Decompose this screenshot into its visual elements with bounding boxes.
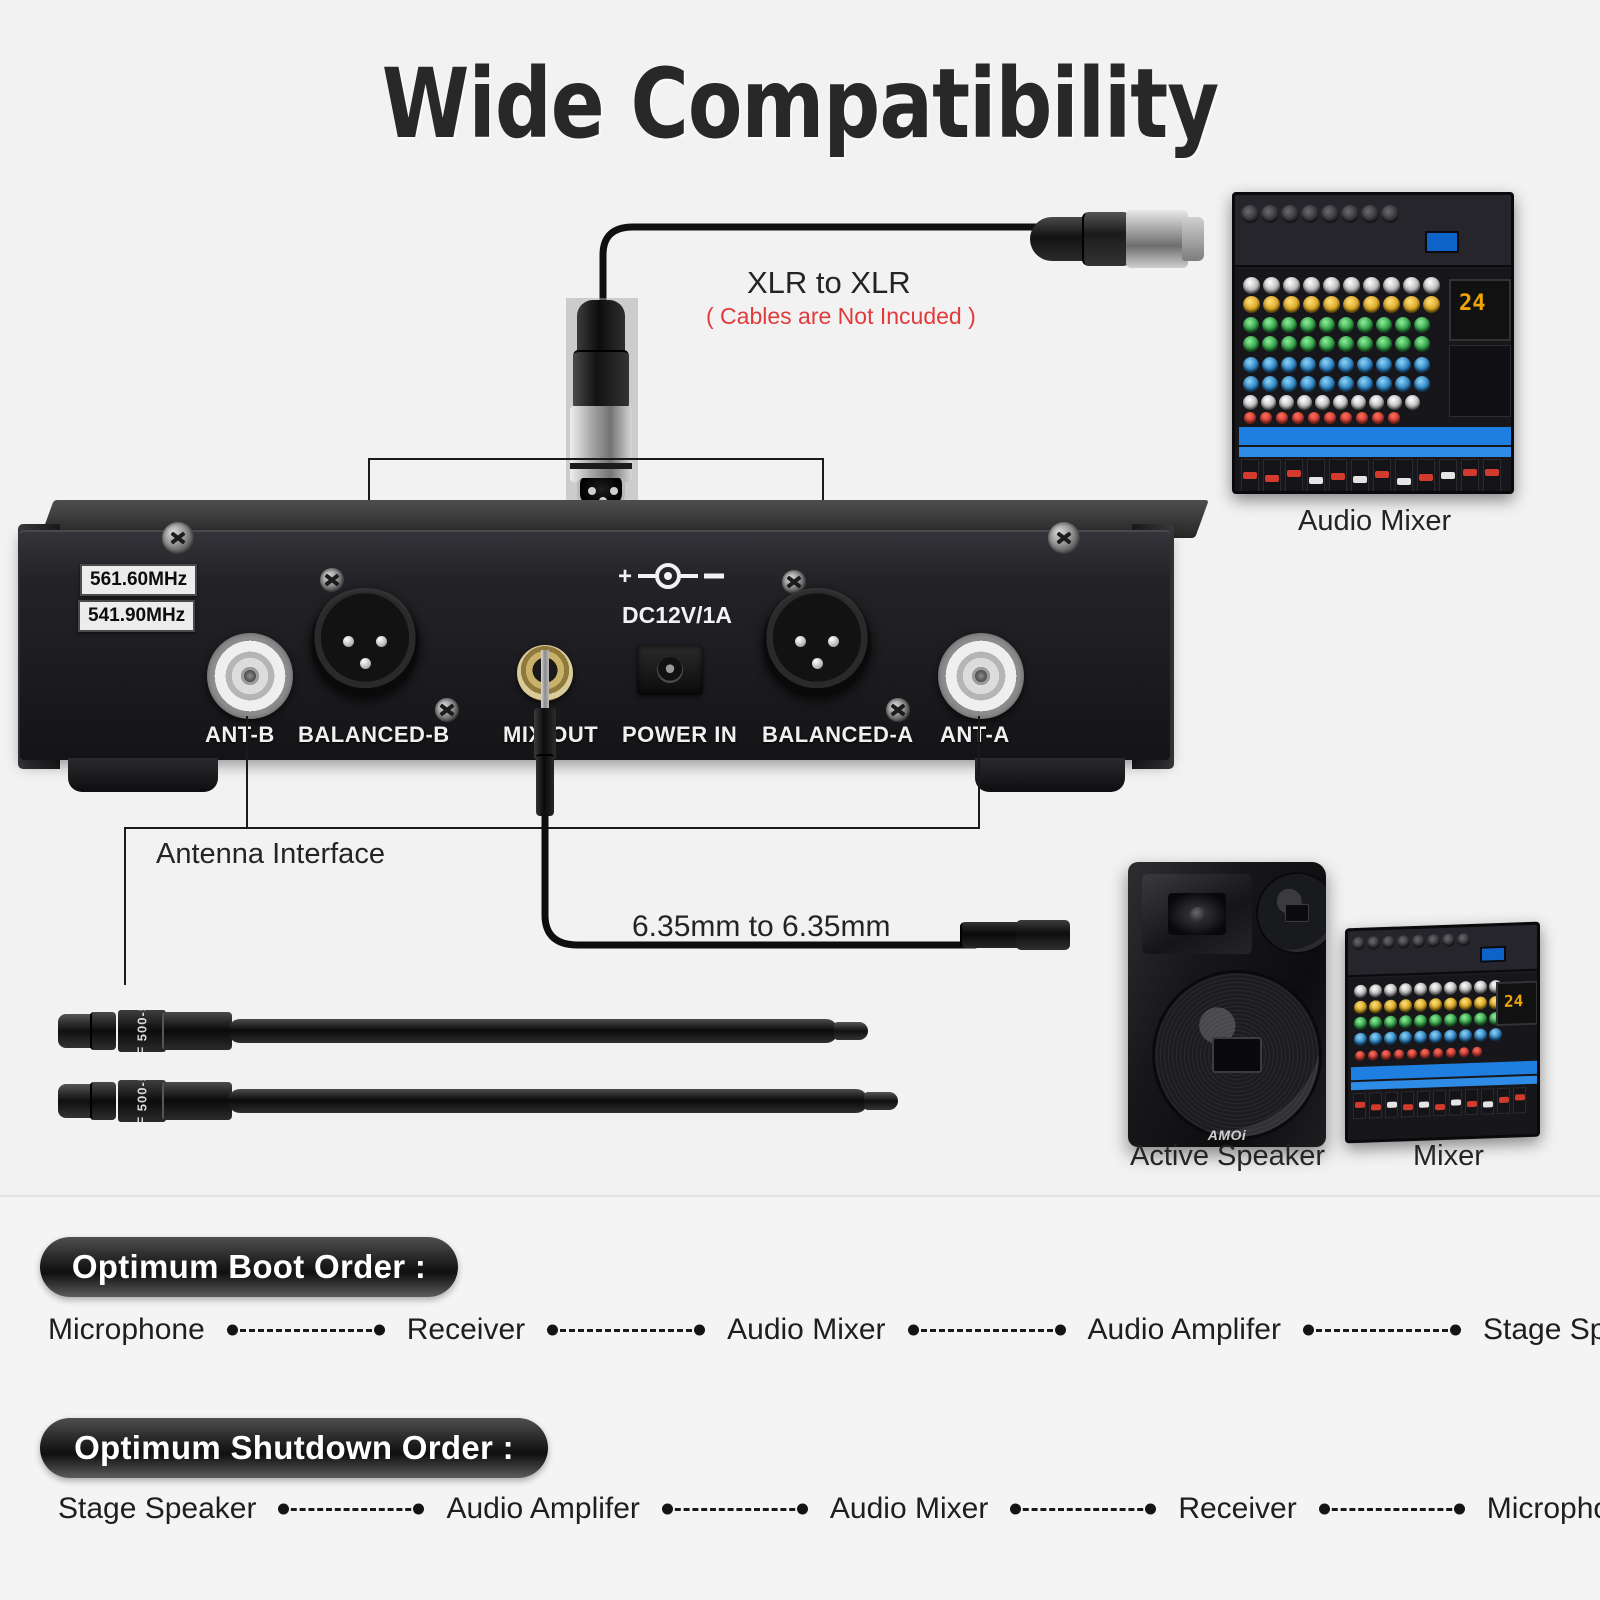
mixer-peak-led	[1324, 412, 1336, 424]
mixer-aux-knob[interactable]	[1243, 376, 1259, 392]
balanced-a-pin-1	[795, 636, 806, 647]
mixer2-dsp-value: 24	[1504, 991, 1523, 1011]
mixer-eq-knob[interactable]	[1343, 296, 1360, 313]
mixer2-peak-led	[1472, 1047, 1482, 1057]
mixer2-eq-knob[interactable]	[1369, 1000, 1382, 1013]
boot-step-4: Audio Amplifer	[1088, 1313, 1281, 1347]
mixer2-gain-knob[interactable]	[1414, 983, 1427, 996]
boot-link-1	[231, 1329, 381, 1332]
mixer-eq-knob[interactable]	[1395, 336, 1411, 352]
mixer2-eq-knob[interactable]	[1459, 997, 1472, 1010]
mixer2-peak-led	[1420, 1048, 1430, 1058]
mixer-aux1-knob-row	[1243, 357, 1430, 373]
mixer2-peak-led	[1459, 1047, 1469, 1057]
boot-step-3: Audio Mixer	[727, 1313, 885, 1347]
balanced-b-pin-3	[360, 658, 371, 669]
mixer2-rear-knob[interactable]	[1442, 934, 1455, 947]
xlr-male-connector	[1030, 208, 1205, 270]
port-label-ant-b: ANT-B	[205, 722, 275, 748]
xlr-pin-1	[588, 487, 596, 495]
mixer-master-fader[interactable]	[1483, 459, 1501, 493]
mixer-pan-knob[interactable]	[1279, 395, 1294, 410]
shutdown-order-chain: Stage Speaker Audio Amplifer Audio Mixer…	[58, 1492, 1600, 1526]
mixer-rear-knob[interactable]	[1261, 205, 1279, 223]
mixer-eq-low-knob-row	[1243, 336, 1430, 352]
shutdown-step-2: Audio Amplifer	[446, 1492, 639, 1526]
antenna-leader-b-vertical	[246, 716, 248, 828]
mixer-gain-knob[interactable]	[1263, 277, 1280, 294]
mixer2-fader[interactable]	[1481, 1088, 1494, 1114]
mixer2-aux-knob[interactable]	[1444, 1029, 1457, 1042]
shutdown-step-3: Audio Mixer	[830, 1492, 988, 1526]
antenna-2-joint	[162, 1082, 232, 1120]
mixer2-eq-knob[interactable]	[1429, 998, 1442, 1011]
mixer-master-fader[interactable]	[1461, 459, 1479, 493]
mixer-aux-knob[interactable]	[1357, 376, 1373, 392]
xlr-female-barrel	[570, 406, 632, 482]
mixer-channel-strip	[1239, 447, 1513, 457]
mixer-fader[interactable]	[1263, 459, 1281, 493]
boot-link-3	[912, 1329, 1062, 1332]
mixer-aux-knob[interactable]	[1414, 357, 1430, 373]
mixer-pan-knob[interactable]	[1387, 395, 1402, 410]
mixer-fader[interactable]	[1329, 459, 1347, 493]
xlr-female-grip	[573, 350, 629, 410]
mixer-eq-knob[interactable]	[1243, 296, 1260, 313]
mixer-rear-knob[interactable]	[1321, 205, 1339, 223]
mixer-aux-knob[interactable]	[1376, 376, 1392, 392]
mixer2-aux-knob[interactable]	[1489, 1028, 1502, 1041]
frequency-sticker-a: 561.60MHz	[80, 564, 197, 596]
shutdown-step-1: Stage Speaker	[58, 1492, 256, 1526]
mixer2-peak-led	[1355, 1051, 1365, 1061]
mixer2-eq-knob[interactable]	[1429, 1014, 1442, 1027]
antenna-1: UHF 500-590	[58, 1008, 868, 1054]
mixer-pan-knob[interactable]	[1369, 395, 1384, 410]
mixer2-rear-knob[interactable]	[1397, 935, 1410, 948]
mixer-peak-led-row	[1244, 412, 1400, 424]
port-label-balanced-b: BALANCED-B	[298, 722, 450, 748]
balanced-b-pin-2	[376, 636, 387, 647]
mixer-aux-knob[interactable]	[1300, 357, 1316, 373]
mixer-fader-row	[1241, 459, 1501, 493]
mixer2-aux-knob[interactable]	[1474, 1028, 1487, 1041]
xlr-female-connector	[565, 300, 637, 510]
mixer-peak-led	[1244, 412, 1256, 424]
mixer-peak-led	[1388, 412, 1400, 424]
mixer2-gain-knob[interactable]	[1369, 984, 1382, 997]
mixer-eq-knob[interactable]	[1323, 296, 1340, 313]
mixer-aux-knob[interactable]	[1395, 376, 1411, 392]
active-speaker-device: AMOi	[1128, 862, 1326, 1147]
mixer-aux-knob[interactable]	[1281, 357, 1297, 373]
shutdown-step-5: Microphone	[1487, 1492, 1600, 1526]
mixer-pan-knob-row	[1243, 395, 1420, 410]
mixer-eq-knob[interactable]	[1383, 296, 1400, 313]
mixer-eq-knob[interactable]	[1303, 296, 1320, 313]
mixer-eq-knob[interactable]	[1319, 317, 1335, 333]
antenna-1-marking: UHF 500-590	[118, 1010, 166, 1052]
antenna-leader-down	[124, 827, 126, 985]
mixer-aux-knob[interactable]	[1319, 357, 1335, 373]
mixer2-eq-knob[interactable]	[1354, 1001, 1367, 1014]
mixer2-gain-knob[interactable]	[1459, 981, 1472, 994]
mixer-pan-knob[interactable]	[1297, 395, 1312, 410]
shutdown-order-heading: Optimum Shutdown Order :	[40, 1418, 548, 1478]
antenna-jack-b[interactable]	[207, 633, 293, 719]
shutdown-link-4	[1323, 1508, 1461, 1511]
mixer2-rear-knob[interactable]	[1367, 936, 1380, 949]
xlr-male-barrel	[1126, 210, 1188, 268]
panel-screw-top-left	[162, 522, 194, 554]
mixer2-eq-knob[interactable]	[1369, 1016, 1382, 1029]
mixer-gain-knob[interactable]	[1303, 277, 1320, 294]
panel-screw-top-right	[1048, 522, 1080, 554]
mixer-fader[interactable]	[1307, 459, 1325, 493]
antenna-1-rod	[228, 1019, 838, 1043]
mixer-fader[interactable]	[1395, 459, 1413, 493]
antenna-2-base	[58, 1084, 94, 1118]
mixer-pan-knob[interactable]	[1315, 395, 1330, 410]
xlr-male-tip	[1182, 217, 1204, 261]
frequency-sticker-b: 541.90MHz	[78, 600, 195, 632]
mixer2-rear-knob[interactable]	[1427, 934, 1440, 947]
mixer-eq-knob[interactable]	[1414, 317, 1430, 333]
speaker-woofer	[1152, 970, 1322, 1140]
mixer-eq-knob[interactable]	[1357, 317, 1373, 333]
mixer2-peak-led	[1394, 1049, 1404, 1059]
mixer-pan-knob[interactable]	[1405, 395, 1420, 410]
mixer-rear-knob[interactable]	[1361, 205, 1379, 223]
mixer2-peak-led	[1446, 1048, 1456, 1058]
mixer-fader[interactable]	[1285, 459, 1303, 493]
mixer-eq-hi-knob-row	[1243, 296, 1440, 313]
antenna-2: UHF 500-590	[58, 1078, 898, 1124]
xlr-male-grip	[1082, 212, 1130, 266]
mixer-gain-knob[interactable]	[1383, 277, 1400, 294]
mixer2-peak-led	[1407, 1049, 1417, 1059]
mixer2-master-fader[interactable]	[1513, 1087, 1526, 1113]
mixer2-aux-knob[interactable]	[1399, 1031, 1412, 1044]
mixer-eq-knob[interactable]	[1263, 296, 1280, 313]
dc-rating-label: DC12V/1A	[622, 602, 732, 629]
antenna-1-joint	[162, 1012, 232, 1050]
mixer-peak-led	[1260, 412, 1272, 424]
mixer2-aux-knob[interactable]	[1414, 1031, 1427, 1044]
mixer-eq-knob[interactable]	[1319, 336, 1335, 352]
mixer2-aux-knob[interactable]	[1429, 1030, 1442, 1043]
antenna-2-tip	[864, 1092, 898, 1110]
mixer-aux-knob[interactable]	[1243, 357, 1259, 373]
mixer-rear-knob-row	[1241, 205, 1399, 223]
mixer2-eq-knob[interactable]	[1414, 1015, 1427, 1028]
mixer-aux-knob[interactable]	[1262, 376, 1278, 392]
audio-mixer-label: Audio Mixer	[1298, 505, 1451, 538]
mixer2-fader[interactable]	[1353, 1093, 1366, 1119]
page-title: Wide Compatibility	[64, 48, 1536, 160]
mixer2-aux-knob[interactable]	[1384, 1032, 1397, 1045]
dc-polarity-symbol: +	[612, 562, 732, 590]
mixer-fader[interactable]	[1351, 459, 1369, 493]
xlr-male-boot	[1030, 217, 1090, 261]
trs-cable-label: 6.35mm to 6.35mm	[632, 910, 890, 944]
mixer-rear-display	[1425, 231, 1459, 253]
mixer-aux-knob[interactable]	[1300, 376, 1316, 392]
mixer-aux-knob[interactable]	[1262, 357, 1278, 373]
mixer2-eq-knob[interactable]	[1474, 1012, 1487, 1025]
mixer-meter-panel	[1449, 345, 1511, 417]
mixer-peak-led	[1340, 412, 1352, 424]
shutdown-link-2	[666, 1508, 804, 1511]
mixer-fader[interactable]	[1373, 459, 1391, 493]
mixer2-eq-knob[interactable]	[1399, 1015, 1412, 1028]
trs-plug-speaker-end	[960, 918, 1090, 952]
mixer2-peak-led	[1381, 1050, 1391, 1060]
mixer2-gain-knob[interactable]	[1474, 980, 1487, 993]
mixer-device-secondary: 24	[1345, 922, 1540, 1144]
mixer2-gain-knob[interactable]	[1384, 984, 1397, 997]
mixer-aux-knob[interactable]	[1319, 376, 1335, 392]
mixer-aux-knob[interactable]	[1338, 357, 1354, 373]
xlr-pin-2	[610, 487, 618, 495]
mixer2-fader[interactable]	[1401, 1091, 1414, 1117]
mixer-gain-knob[interactable]	[1403, 277, 1420, 294]
boot-link-4	[1307, 1329, 1457, 1332]
mixer2-gain-knob[interactable]	[1444, 981, 1457, 994]
mixer-peak-led	[1276, 412, 1288, 424]
balanced-b-pin-1	[343, 636, 354, 647]
mixer-gain-knob[interactable]	[1323, 277, 1340, 294]
boot-step-2: Receiver	[407, 1313, 525, 1347]
balanced-jack-b[interactable]	[310, 588, 420, 698]
xlr-leader-horizontal	[368, 458, 824, 460]
mixer-mute-strip[interactable]	[1239, 427, 1513, 445]
balanced-a-pin-2	[828, 636, 839, 647]
panel-screw-b-upper	[320, 568, 344, 592]
mixer2-fader[interactable]	[1433, 1090, 1446, 1116]
mixer-eq-knob[interactable]	[1395, 317, 1411, 333]
mixer-aux-knob[interactable]	[1376, 357, 1392, 373]
mixer-peak-led	[1308, 412, 1320, 424]
mixer2-gain-knob[interactable]	[1399, 983, 1412, 996]
mixer2-rear-knob[interactable]	[1352, 937, 1365, 950]
mixer2-fader[interactable]	[1385, 1092, 1398, 1118]
mixer-eq-knob[interactable]	[1262, 317, 1278, 333]
mixer2-dsp-display: 24	[1496, 981, 1538, 1026]
speaker-mid-driver	[1256, 872, 1326, 954]
antenna-1-base	[58, 1014, 94, 1048]
mixer-eq-knob[interactable]	[1414, 336, 1430, 352]
mixer2-eq-knob[interactable]	[1459, 1013, 1472, 1026]
boot-step-1: Microphone	[48, 1313, 205, 1347]
mixer2-fader[interactable]	[1417, 1090, 1430, 1116]
receiver-foot-left	[68, 758, 218, 792]
mixer-eq-knob[interactable]	[1243, 317, 1259, 333]
xlr-cable-note: ( Cables are Not Incuded )	[706, 303, 976, 330]
mixer2-fader[interactable]	[1497, 1088, 1510, 1114]
mixer2-gain-knob[interactable]	[1429, 982, 1442, 995]
mixer-aux-knob[interactable]	[1357, 357, 1373, 373]
shutdown-step-4: Receiver	[1178, 1492, 1296, 1526]
mixer2-eq-knob[interactable]	[1474, 996, 1487, 1009]
mixer2-eq-knob[interactable]	[1414, 999, 1427, 1012]
mixer2-peak-led	[1433, 1048, 1443, 1058]
mixer-rear-knob[interactable]	[1381, 205, 1399, 223]
mixer-rear-knob[interactable]	[1301, 205, 1319, 223]
mixer2-rear-knob[interactable]	[1412, 935, 1425, 948]
shutdown-link-3	[1014, 1508, 1152, 1511]
panel-screw-b-lower	[435, 698, 459, 722]
mixer-eq-mid-knob-row	[1243, 317, 1430, 333]
mixer-rear-knob[interactable]	[1241, 205, 1259, 223]
mixer-gain-knob[interactable]	[1423, 277, 1440, 294]
boot-order-chain: Microphone Receiver Audio Mixer Audio Am…	[48, 1313, 1600, 1347]
mixer-aux-knob[interactable]	[1281, 376, 1297, 392]
mixer-pan-knob[interactable]	[1243, 395, 1258, 410]
mixer-rear-knob[interactable]	[1281, 205, 1299, 223]
antenna-1-ring	[90, 1012, 116, 1050]
mixer-eq-knob[interactable]	[1363, 296, 1380, 313]
mixer-gain-knob[interactable]	[1343, 277, 1360, 294]
mixer-fader[interactable]	[1241, 459, 1259, 493]
mixer-label: Mixer	[1413, 1140, 1484, 1173]
mixer2-eq-knob[interactable]	[1384, 1000, 1397, 1013]
mixer-gain-knob[interactable]	[1363, 277, 1380, 294]
mixer-eq-knob[interactable]	[1281, 336, 1297, 352]
mixer-eq-knob[interactable]	[1423, 296, 1440, 313]
mixer-eq-knob[interactable]	[1300, 336, 1316, 352]
mixer-eq-knob[interactable]	[1300, 317, 1316, 333]
xlr-female-ring	[570, 463, 632, 469]
svg-text:+: +	[618, 563, 632, 590]
boot-link-2	[551, 1329, 701, 1332]
mixer2-eq-knob[interactable]	[1354, 1017, 1367, 1030]
mixer-eq-knob[interactable]	[1243, 336, 1259, 352]
mixer-pan-knob[interactable]	[1261, 395, 1276, 410]
mixer-dsp-value: 24	[1459, 291, 1486, 316]
mixer2-fader[interactable]	[1449, 1089, 1462, 1115]
mixer2-aux-knob[interactable]	[1369, 1032, 1382, 1045]
mixer-fader[interactable]	[1417, 459, 1435, 493]
mixer-eq-knob[interactable]	[1357, 336, 1373, 352]
mixer-gain-knob[interactable]	[1283, 277, 1300, 294]
mixer2-gain-knob[interactable]	[1354, 985, 1367, 998]
mixer-eq-knob[interactable]	[1262, 336, 1278, 352]
antenna-2-marking: UHF 500-590	[118, 1080, 166, 1122]
speaker-horn-tweeter	[1142, 874, 1252, 954]
mixer2-fader[interactable]	[1465, 1089, 1478, 1115]
mixer2-aux-knob[interactable]	[1459, 1029, 1472, 1042]
trs-plug-body-2	[1016, 920, 1070, 950]
antenna-2-ring	[90, 1082, 116, 1120]
boot-step-5: Stage Speaker	[1483, 1313, 1600, 1347]
trs-plug-strain-relief-2	[960, 922, 1022, 948]
boot-order-heading: Optimum Boot Order :	[40, 1237, 458, 1297]
antenna-1-tip	[834, 1022, 868, 1040]
mixer2-eq-knob[interactable]	[1384, 1016, 1397, 1029]
mixer-eq-knob[interactable]	[1338, 317, 1354, 333]
xlr-cable-label: XLR to XLR	[747, 265, 911, 301]
mixer-gain-knob[interactable]	[1243, 277, 1260, 294]
mixer2-eq-knob[interactable]	[1444, 1013, 1457, 1026]
mixer2-fader[interactable]	[1369, 1092, 1382, 1118]
mixer-peak-led	[1356, 412, 1368, 424]
mixer-peak-led	[1292, 412, 1304, 424]
mixer-pan-knob[interactable]	[1351, 395, 1366, 410]
mixer-aux-knob[interactable]	[1414, 376, 1430, 392]
shutdown-link-1	[282, 1508, 420, 1511]
mixer-eq-knob[interactable]	[1338, 336, 1354, 352]
mixer-peak-led	[1372, 412, 1384, 424]
mixer2-eq-knob[interactable]	[1399, 999, 1412, 1012]
mixer-pan-knob[interactable]	[1333, 395, 1348, 410]
mixer-eq-knob[interactable]	[1376, 336, 1392, 352]
mixer2-peak-led	[1368, 1050, 1378, 1060]
mixer-aux-knob[interactable]	[1338, 376, 1354, 392]
mixer-fader[interactable]	[1439, 459, 1457, 493]
mixer-aux-knob[interactable]	[1395, 357, 1411, 373]
mixer2-rear-knob[interactable]	[1457, 933, 1470, 946]
mixer2-rear-rail	[1348, 925, 1537, 978]
mixer-aux2-knob-row	[1243, 376, 1430, 392]
mixer-dsp-display: 24	[1449, 279, 1511, 341]
mixer2-eq-knob[interactable]	[1444, 997, 1457, 1010]
mixer-eq-knob[interactable]	[1283, 296, 1300, 313]
audio-mixer-device: 24	[1232, 192, 1514, 494]
antenna-2-rod	[228, 1089, 868, 1113]
mixer-eq-knob[interactable]	[1403, 296, 1420, 313]
active-speaker-label: Active Speaker	[1130, 1140, 1325, 1173]
infographic-canvas: Wide Compatibility XLR to XLR ( Cables a…	[0, 0, 1600, 1600]
mixer-rear-knob[interactable]	[1341, 205, 1359, 223]
mixer-eq-knob[interactable]	[1376, 317, 1392, 333]
antenna-2-marking-text: UHF 500-590	[135, 1080, 150, 1122]
mixer-eq-knob[interactable]	[1281, 317, 1297, 333]
mixer-gain-knob-row	[1243, 277, 1440, 294]
antenna-interface-label: Antenna Interface	[156, 838, 385, 871]
antenna-1-marking-text: UHF 500-590	[135, 1010, 150, 1052]
mixer2-aux-knob[interactable]	[1354, 1033, 1367, 1046]
mixer2-rear-knob[interactable]	[1382, 936, 1395, 949]
mixer2-rear-display	[1480, 946, 1506, 963]
